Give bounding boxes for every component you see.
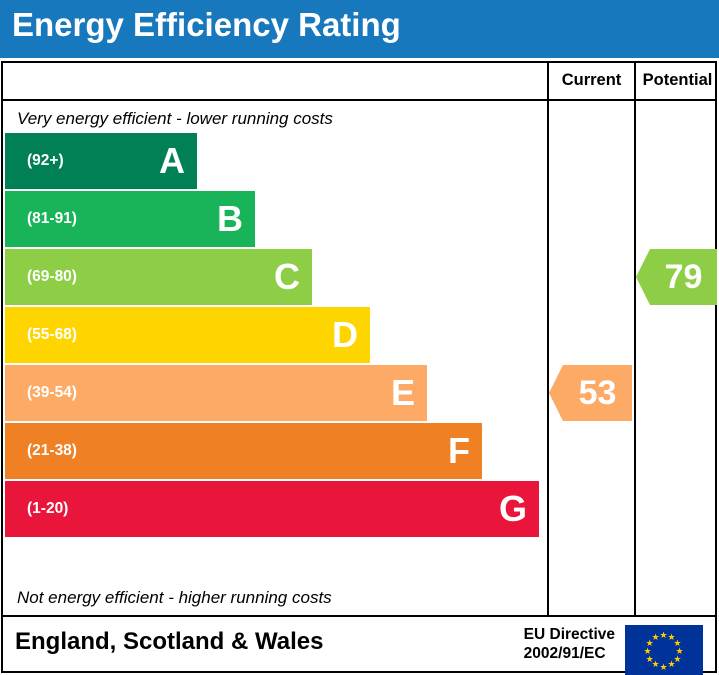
- page-title: Energy Efficiency Rating: [12, 6, 401, 44]
- band-bar-a: (92+)A: [5, 133, 197, 189]
- eu-star-icon: ★: [652, 633, 660, 642]
- band-range-c: (69-80): [27, 268, 77, 286]
- band-letter-a: A: [159, 137, 185, 185]
- band-letter-g: G: [499, 485, 527, 533]
- band-bar-f: (21-38)F: [5, 423, 482, 479]
- footer-region-label: England, Scotland & Wales: [15, 628, 323, 656]
- column-header-current: Current: [549, 71, 634, 90]
- eu-star-icon: ★: [644, 647, 652, 656]
- rating-marker-potential: 79: [636, 249, 717, 305]
- band-letter-c: C: [274, 253, 300, 301]
- column-divider-current: [547, 63, 549, 615]
- eu-flag-icon: ★★★★★★★★★★★★: [625, 625, 703, 675]
- band-bar-c: (69-80)C: [5, 249, 312, 305]
- band-range-d: (55-68): [27, 326, 77, 344]
- footer-directive-line2: 2002/91/EC: [524, 644, 615, 663]
- band-range-g: (1-20): [27, 500, 68, 518]
- band-bar-b: (81-91)B: [5, 191, 255, 247]
- chart-header: Energy Efficiency Rating: [0, 0, 719, 58]
- footer-directive-line1: EU Directive: [524, 625, 615, 644]
- band-bar-d: (55-68)D: [5, 307, 370, 363]
- band-range-a: (92+): [27, 152, 64, 170]
- band-range-f: (21-38): [27, 442, 77, 460]
- rating-marker-current: 53: [549, 365, 632, 421]
- band-letter-f: F: [448, 427, 470, 475]
- band-bar-e: (39-54)E: [5, 365, 427, 421]
- column-divider-potential: [634, 63, 636, 615]
- eu-star-icon: ★: [660, 631, 668, 640]
- rating-value-potential: 79: [636, 249, 717, 305]
- footer-directive: EU Directive 2002/91/EC: [524, 625, 615, 663]
- band-bar-g: (1-20)G: [5, 481, 539, 537]
- caption-bottom: Not energy efficient - higher running co…: [17, 588, 332, 608]
- band-letter-e: E: [391, 369, 415, 417]
- rating-chart: Current Potential Very energy efficient …: [1, 61, 717, 617]
- caption-top: Very energy efficient - lower running co…: [17, 109, 333, 129]
- eu-star-icon: ★: [646, 655, 654, 664]
- epc-certificate: Energy Efficiency Rating Current Potenti…: [0, 0, 719, 675]
- eu-star-icon: ★: [668, 660, 676, 669]
- band-letter-b: B: [217, 195, 243, 243]
- band-letter-d: D: [332, 311, 358, 359]
- chart-footer: England, Scotland & Wales EU Directive 2…: [1, 617, 717, 673]
- band-range-b: (81-91): [27, 210, 77, 228]
- band-range-e: (39-54): [27, 384, 77, 402]
- column-header-potential: Potential: [636, 71, 719, 90]
- eu-star-icon: ★: [660, 663, 668, 672]
- rating-value-current: 53: [549, 365, 632, 421]
